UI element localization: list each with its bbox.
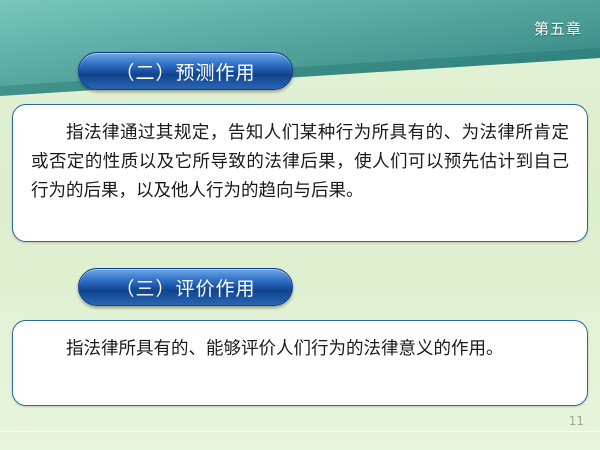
slide: 第五章 （二）预测作用 指法律通过其规定，告知人们某种行为所具有的、为法律所肯定… xyxy=(0,0,600,450)
section-heading-2-label: （三）评价作用 xyxy=(115,274,255,301)
section-body-box-2: 指法律所具有的、能够评价人们行为的法律意义的作用。 xyxy=(12,320,588,406)
page-number: 11 xyxy=(569,414,584,428)
section-body-2-text: 指法律所具有的、能够评价人们行为的法律意义的作用。 xyxy=(31,335,569,364)
section-body-1-text: 指法律通过其规定，告知人们某种行为所具有的、为法律所肯定或否定的性质以及它所导致… xyxy=(31,119,569,206)
section-heading-2: （三）评价作用 xyxy=(78,268,293,306)
section-body-box-1: 指法律通过其规定，告知人们某种行为所具有的、为法律所肯定或否定的性质以及它所导致… xyxy=(12,104,588,242)
section-heading-1-label: （二）预测作用 xyxy=(115,58,255,85)
bottom-divider xyxy=(0,431,600,432)
chapter-label: 第五章 xyxy=(534,18,582,39)
section-heading-1: （二）预测作用 xyxy=(78,52,293,90)
